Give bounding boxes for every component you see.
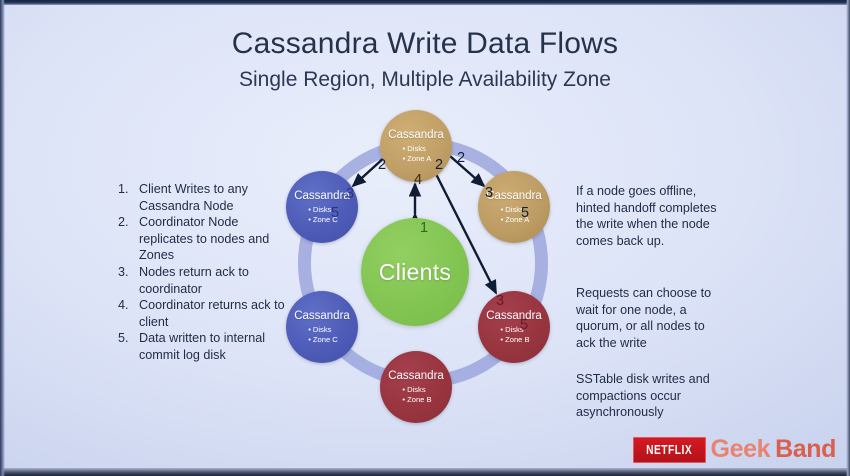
brand-logo: NETFLIX GeekBand [633,435,836,464]
list-item: 5. Data written to internal commit log d… [118,330,286,363]
node-cassandra-lower-right-zone-b[interactable]: Cassandra Disks Zone B [478,291,550,363]
flow-label-client-write-1: 1 [420,221,428,236]
slide-title: Cassandra Write Data Flows [0,27,850,61]
node-attributes: Disks Zone C [306,325,338,344]
list-item: 3. Nodes return ack to coordinator [118,264,286,297]
node-title: Cassandra [388,129,444,142]
node-cassandra-upper-right-zone-a[interactable]: Cassandra Disks Zone A [478,171,550,243]
flow-label-coordinator-ack-4: 4 [414,173,422,188]
list-item: 4. Coordinator returns ack to client [118,297,286,330]
note-sstable-compaction: SSTable disk writes and compactions occu… [576,371,722,421]
node-title: Cassandra [294,190,350,203]
geekband-geek-text: Geek [711,435,771,464]
list-item: 2. Coordinator Node replicates to nodes … [118,214,286,264]
clients-circle[interactable]: Clients [361,218,469,326]
step-text: Client Writes to any Cassandra Node [139,181,286,214]
flow-label-replicate-center-2: 2 [435,158,443,173]
list-item: 1. Client Writes to any Cassandra Node [118,181,286,214]
flow-label-ack-upright-3: 3 [485,186,493,201]
node-zone: Zone B [500,335,529,344]
node-attributes: Disks Zone A [401,144,432,163]
write-flow-steps-list: 1. Client Writes to any Cassandra Node 2… [118,181,286,364]
node-title: Cassandra [486,310,542,323]
slide-canvas: Cassandra Write Data Flows Single Region… [0,0,850,476]
step-number: 4. [118,297,133,330]
step-text: Coordinator Node replicates to nodes and… [139,214,286,264]
node-attributes: Disks Zone B [400,385,431,404]
node-cassandra-upper-left-zone-c[interactable]: Cassandra Disks Zone C [286,171,358,243]
step-number: 3. [118,264,133,297]
step-text: Nodes return ack to coordinator [139,264,286,297]
step-text: Coordinator returns ack to client [139,297,286,330]
step-number: 1. [118,181,133,214]
node-title: Cassandra [486,190,542,203]
note-hinted-handoff: If a node goes offline, hinted handoff c… [576,183,722,249]
step-number: 5. [118,330,133,363]
node-zone: Zone B [402,395,431,404]
cassandra-ring-diagram: Cassandra Disks Zone A Cassandra Disks Z… [268,108,588,428]
frame-edge-top [0,0,850,5]
netflix-logo: NETFLIX [633,437,705,463]
node-cassandra-bottom-zone-b[interactable]: Cassandra Disks Zone B [380,351,452,423]
node-zone: Zone C [308,335,338,344]
node-disks: Disks [308,325,338,334]
node-disks: Disks [402,385,431,394]
clients-label: Clients [379,259,451,286]
flow-label-replicate-right-2: 2 [457,151,465,166]
netflix-wordmark: NETFLIX [646,443,692,457]
geekband-band-text: Band [775,435,836,464]
flow-label-commitlog-upright-5: 5 [521,206,529,221]
step-number: 2. [118,214,133,264]
flow-label-commitlog-upleft-5: 5 [331,206,339,221]
node-title: Cassandra [388,370,444,383]
frame-edge-bottom [0,468,850,476]
node-zone: Zone A [403,154,432,163]
flow-label-ack-upleft-3: 3 [346,187,354,202]
node-title: Cassandra [294,310,350,323]
slide-subtitle: Single Region, Multiple Availability Zon… [0,68,850,92]
node-disks: Disks [403,144,432,153]
arrow-coordinator-upright [450,156,484,186]
node-cassandra-lower-left-zone-c[interactable]: Cassandra Disks Zone C [286,291,358,363]
note-consistency-level: Requests can choose to wait for one node… [576,285,722,351]
flow-label-ack-loright-3: 3 [496,294,504,309]
flow-label-replicate-left-2: 2 [378,158,386,173]
flow-label-commitlog-loright-5: 5 [520,318,528,333]
step-text: Data written to internal commit log disk [139,330,286,363]
